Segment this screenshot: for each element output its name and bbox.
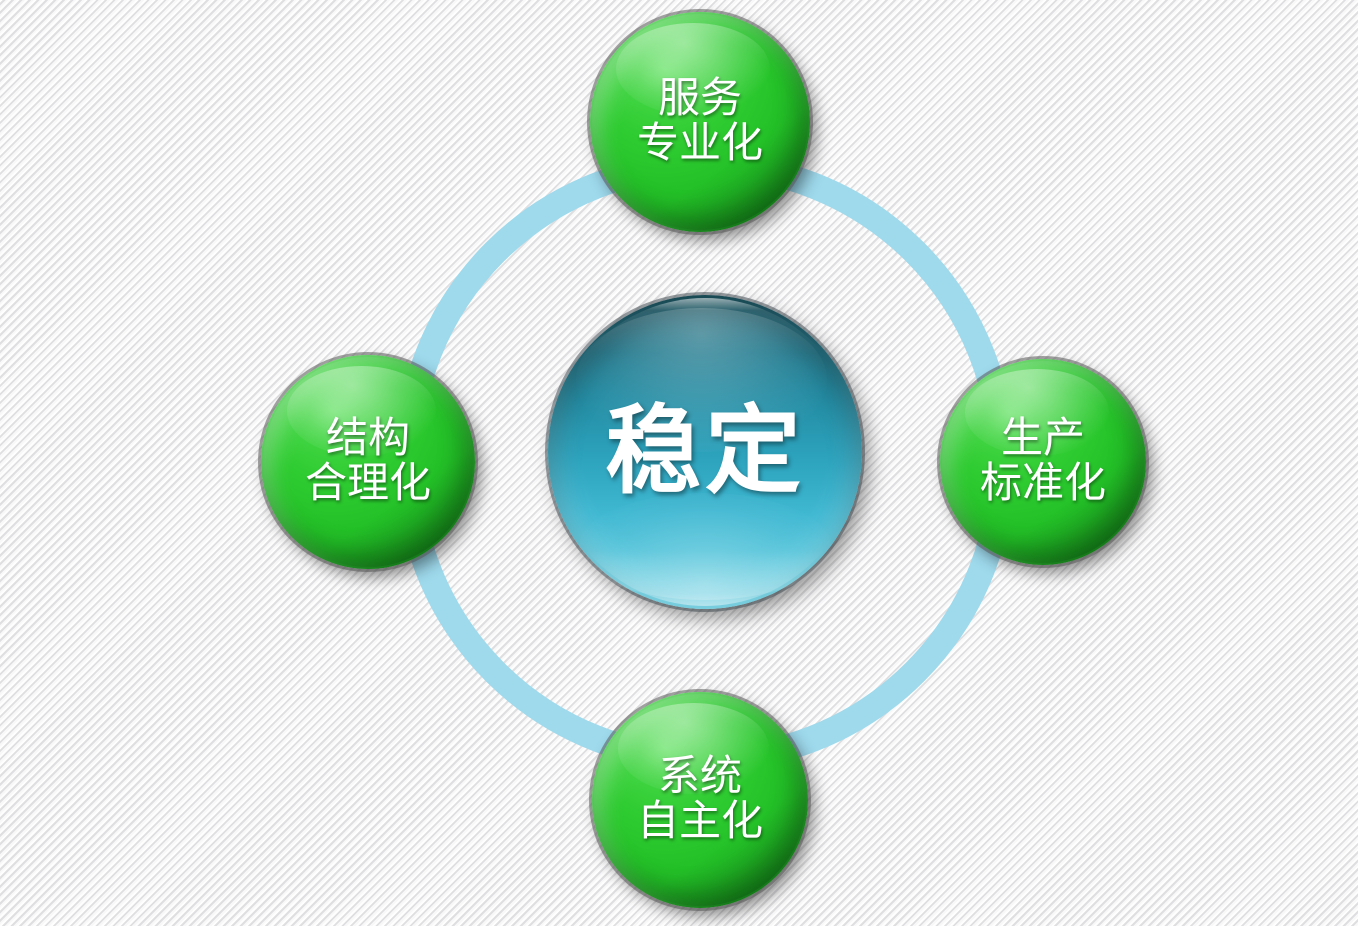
node-left[interactable]: 结构 合理化	[261, 355, 475, 569]
node-left-label-line1: 结构	[326, 417, 410, 462]
node-top[interactable]: 服务 专业化	[590, 12, 810, 232]
node-bottom-label-line1: 系统	[658, 755, 742, 800]
node-right-label-line2: 标准化	[980, 462, 1106, 507]
node-left-label-line2: 合理化	[305, 462, 431, 507]
node-bottom[interactable]: 系统 自主化	[592, 692, 808, 908]
diagram-canvas: 服务 专业化 生产 标准化 系统 自主化 结构 合理化 稳定	[0, 0, 1358, 926]
node-top-label-line1: 服务	[658, 77, 742, 122]
node-bottom-label-line2: 自主化	[637, 800, 763, 845]
node-right[interactable]: 生产 标准化	[940, 359, 1146, 565]
center-hub-label: 稳定	[605, 400, 805, 504]
center-hub[interactable]: 稳定	[548, 295, 862, 609]
node-top-label-line2: 专业化	[637, 122, 763, 167]
node-right-label-line1: 生产	[1001, 417, 1085, 462]
